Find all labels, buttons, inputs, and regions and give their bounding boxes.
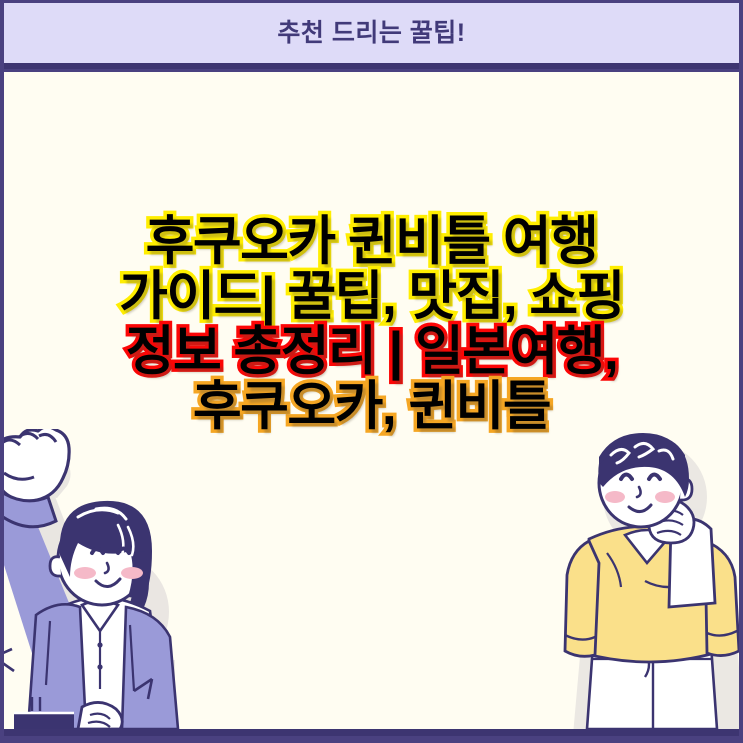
header-title: 추천 드리는 꿀팁!: [277, 21, 465, 46]
woman-cheering-illustration: [4, 429, 201, 729]
page-title: 후쿠오카 퀸비틀 여행 가이드| 꿀팁, 맛집, 쇼핑 정보 총정리 | 일본여…: [4, 214, 739, 434]
man-thinking-illustration: [549, 429, 739, 729]
title-line-2: 가이드| 꿀팁, 맛집, 쇼핑: [4, 269, 739, 324]
title-line-3: 정보 총정리 | 일본여행,: [4, 324, 739, 379]
header-bar: 추천 드리는 꿀팁!: [4, 3, 739, 69]
title-line-1: 후쿠오카 퀸비틀 여행: [4, 214, 739, 269]
content-panel: 후쿠오카 퀸비틀 여행 가이드| 꿀팁, 맛집, 쇼핑 정보 총정리 | 일본여…: [4, 72, 739, 736]
thumbnail-canvas: 추천 드리는 꿀팁! 후쿠오카 퀸비틀 여행 가이드| 꿀팁, 맛집, 쇼핑 정…: [0, 0, 743, 743]
title-line-4: 후쿠오카, 퀸비틀: [4, 379, 739, 434]
